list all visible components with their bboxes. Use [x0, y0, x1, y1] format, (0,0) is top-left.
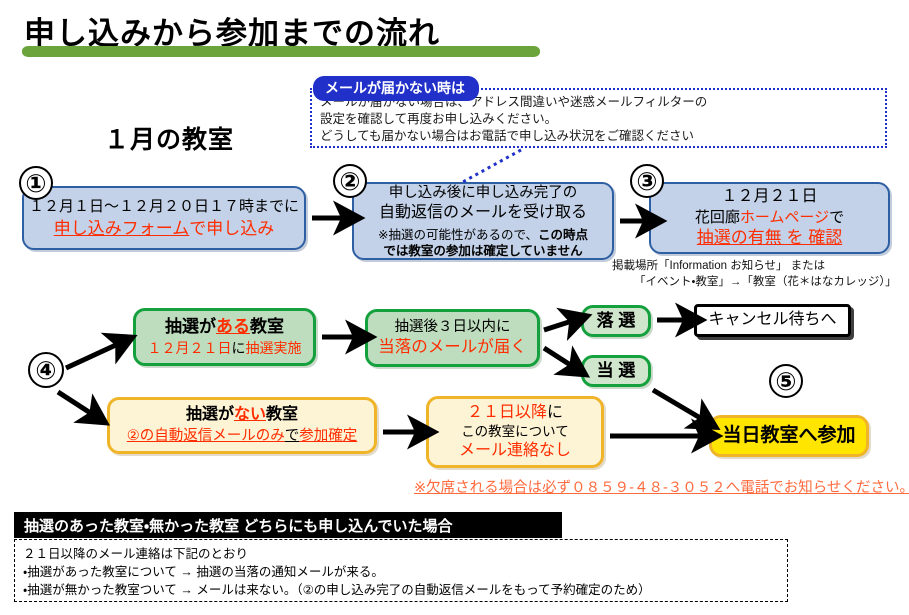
no-mail-ni: に	[547, 404, 563, 421]
no-mail-line-1: ２１日以降に	[467, 403, 563, 423]
mail-notice-text: メールが届かない場合は、アドレス間違いや迷惑メールフィルターの 設定を確認して再…	[320, 94, 707, 145]
lottery-no-auto-mail: ②の自動返信メールのみ	[127, 428, 285, 444]
phone-warning-text: ※欠席される場合は必ず０８５９-４８-３０５２へ電話でお知らせください。	[414, 476, 909, 497]
arrow-4-lottery-no	[58, 392, 92, 414]
cancel-wait-label: キャンセル待ちへ	[708, 310, 836, 330]
bottom-panel-body: ２１日以降のメール連絡は下記のとおり ・抽選があった教室について → 抽選の当落…	[14, 539, 788, 602]
lottery-yes-line-1: 抽選がある教室	[165, 316, 284, 338]
mail-result-box: 抽選後３日以内に 当落のメールが届く	[365, 309, 540, 367]
cancel-wait-box: キャンセル待ちへ	[694, 304, 851, 337]
step-3-line-3: 抽選の有無 を 確認	[697, 227, 842, 249]
mail-notice-badge: メールが届かない時は	[313, 76, 479, 101]
step-4-number: ④	[28, 352, 64, 388]
lottery-yes-box: 抽選がある教室 １２月２１日に抽選実施	[133, 308, 316, 366]
mail-result-line-2: 当落のメールが届く	[378, 337, 527, 358]
month-heading: １月の教室	[104, 120, 234, 156]
lottery-no-c: 教室	[266, 406, 298, 423]
lottery-no-line-2: ②の自動返信メールのみで参加確定	[127, 427, 358, 446]
lottery-no-a: 抽選が	[186, 406, 234, 423]
step-5-number: ⑤	[769, 364, 803, 398]
step-1-line-2-tail: で申し込み	[189, 219, 274, 238]
step-1-number: ①	[19, 166, 53, 200]
mail-notice-line-3: どうしても届かない場合はお電話で申し込み状況をご確認ください	[320, 128, 707, 145]
lottery-yes-c: 教室	[250, 317, 284, 336]
step-2-line-2: 自動返信のメールを受け取る	[379, 203, 587, 223]
result-lose-label: 落 選	[597, 310, 636, 332]
attend-label: 当日教室へ参加	[722, 424, 855, 448]
no-mail-date: ２１日以降	[467, 404, 547, 421]
no-mail-line-3: メール連絡なし	[459, 441, 571, 461]
mail-result-line-1: 抽選後３日以内に	[395, 318, 511, 337]
step-2-box: 申し込み後に申し込み完了の 自動返信のメールを受け取る ※抽選の可能性があるので…	[352, 182, 614, 260]
title-underline-bar	[22, 46, 540, 57]
bottom-line-1: ２１日以降のメール連絡は下記のとおり	[23, 545, 787, 563]
step-1-box: １２月１日～１２月２０日１７時までに 申し込みフォームで申し込み	[22, 186, 306, 250]
step-3-line-2-c: で	[829, 209, 844, 226]
step-2-line-3-a: ※抽選の可能性があるので、	[378, 228, 538, 242]
application-form-link[interactable]: 申し込みフォーム	[54, 219, 190, 238]
lottery-no-b: ない	[234, 406, 266, 423]
step-2-number: ②	[333, 164, 367, 198]
step-2-line-3: ※抽選の可能性があるので、この時点	[378, 227, 588, 243]
step-2-line-3-b: この時点	[538, 228, 588, 242]
lottery-yes-line-2: １２月２１日に抽選実施	[148, 340, 302, 358]
no-mail-line-3-text: メール連絡なし	[459, 442, 571, 459]
bottom-panel-header: 抽選のあった教室・無かった教室 どちらにも申し込んでいた場合	[14, 512, 562, 538]
step-3-caption-line-2: 「イベント・教室」→「教室（花＊はなカレッジ）」	[612, 274, 897, 290]
no-mail-line-2: この教室について	[461, 423, 569, 440]
lottery-yes-date: １２月２１日	[148, 340, 232, 356]
flowchart-canvas: 申し込みから参加までの流れ １月の教室 メールが届かない場合は、アドレス間違いや…	[0, 0, 909, 615]
step-3-box: １２月２１日 花回廊ホームページで 抽選の有無 を 確認	[649, 182, 890, 254]
lottery-no-de: で	[285, 428, 300, 444]
arrow-mailresult-lose	[544, 321, 572, 330]
result-win-box: 当 選	[581, 355, 651, 387]
step-3-number: ③	[630, 164, 664, 198]
step-3-line-2-a: 花回廊	[695, 209, 740, 226]
step-3-caption: 掲載場所「Information お知らせ」 または 「イベント・教室」→「教室…	[612, 258, 897, 290]
result-win-label: 当 選	[597, 360, 636, 382]
step-1-line-1: １２月１日～１２月２０日１７時までに	[29, 197, 299, 216]
step-3-caption-line-1: 掲載場所「Information お知らせ」 または	[612, 258, 897, 274]
step-3-line-1: １２月２１日	[721, 187, 817, 207]
arrow-mailresult-win	[544, 348, 572, 366]
result-lose-box: 落 選	[581, 305, 651, 337]
lottery-no-line-1: 抽選がない教室	[186, 405, 298, 425]
notice-leader-line	[461, 150, 521, 183]
homepage-link[interactable]: ホームページ	[740, 209, 829, 226]
arrow-win-attend	[653, 390, 702, 419]
bottom-line-3: ・抽選が無かった教室ついて → メールは来ない。（②の申し込み完了の自動返信メー…	[23, 581, 787, 599]
arrow-4-lottery-yes	[66, 344, 118, 368]
step-2-line-4: では教室の参加は確定していません	[383, 243, 582, 259]
step-3-line-2: 花回廊ホームページで	[695, 208, 844, 227]
mail-notice-line-2: 設定を確認して再度お申し込みください。	[320, 111, 707, 128]
lottery-no-confirm: 参加確定	[299, 428, 357, 444]
no-mail-box: ２１日以降に この教室について メール連絡なし	[426, 396, 604, 468]
lottery-yes-de: に	[232, 340, 246, 356]
bottom-line-2: ・抽選があった教室について → 抽選の当落の通知メールが来る。	[23, 563, 787, 581]
step-1-line-2: 申し込みフォームで申し込み	[54, 218, 275, 240]
lottery-no-box: 抽選がない教室 ②の自動返信メールのみで参加確定	[107, 397, 377, 454]
lottery-yes-a: 抽選が	[165, 317, 216, 336]
attend-box: 当日教室へ参加	[709, 415, 869, 457]
step-2-line-1: 申し込み後に申し込み完了の	[389, 184, 578, 203]
lottery-yes-exec: 抽選実施	[246, 340, 302, 356]
lottery-yes-b: ある	[216, 317, 250, 336]
